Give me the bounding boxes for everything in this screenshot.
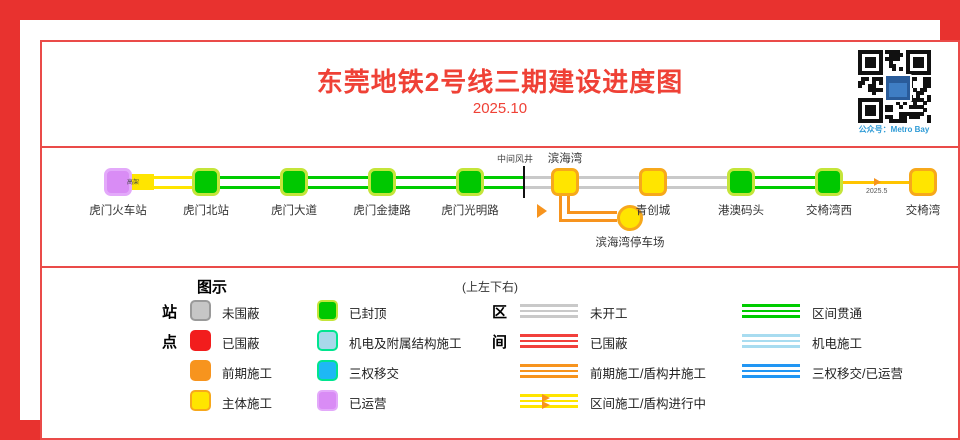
legend-label: 已运营 <box>349 393 387 412</box>
legend-line-stroke <box>742 345 800 348</box>
legend-line-arrow <box>542 401 550 409</box>
mid-shaft-label: 中间风井 <box>497 152 533 165</box>
depot-branch-arrow <box>537 204 547 218</box>
legend-line-swatch <box>742 332 800 349</box>
qr-center-logo <box>884 74 912 102</box>
station-label-虎门大道: 虎门大道 <box>249 202 339 218</box>
legend-line-stroke <box>520 304 578 307</box>
tbm-date-label: 2025.5 <box>866 188 887 195</box>
legend-line-stroke <box>520 345 578 348</box>
legend-line-stroke <box>520 370 578 373</box>
legend-label: 三权移交/已运营 <box>812 363 903 382</box>
legend-swatch <box>317 300 338 321</box>
station-虎门北站[interactable] <box>192 168 220 196</box>
legend-panel: 图示 (上左下右) 站点区间未围蔽已围蔽前期施工主体施工已封顶机电及附属结构施工… <box>40 268 960 440</box>
legend-swatch <box>190 390 211 411</box>
legend-label: 前期施工/盾构井施工 <box>590 363 706 382</box>
legend-label: 三权移交 <box>349 363 399 382</box>
legend-line-stroke <box>742 340 800 343</box>
station-交椅湾西[interactable] <box>815 168 843 196</box>
legend-label: 区间施工/盾构进行中 <box>590 393 706 412</box>
legend-line-swatch <box>520 392 578 409</box>
legend-line-stroke <box>742 370 800 373</box>
station-滨海湾[interactable] <box>551 168 579 196</box>
station-label-虎门金捷路: 虎门金捷路 <box>337 202 427 218</box>
station-label-滨海湾停车场: 滨海湾停车场 <box>585 234 675 250</box>
page-title: 东莞地铁2号线三期建设进度图 <box>42 62 958 99</box>
legend-title: 图示 <box>197 276 227 297</box>
station-label-虎门光明路: 虎门光明路 <box>425 202 515 218</box>
station-label-虎门北站: 虎门北站 <box>161 202 251 218</box>
legend-label: 已封顶 <box>349 303 387 322</box>
legend-label: 前期施工 <box>222 363 272 382</box>
legend-line-stroke <box>520 375 578 378</box>
legend-line-stroke <box>742 364 800 367</box>
legend-label: 主体施工 <box>222 393 272 412</box>
line-diagram: 高架中间风井2025.5滨海湾停车场虎门火车站虎门北站虎门大道虎门金捷路虎门光明… <box>42 148 958 266</box>
legend-swatch <box>317 360 338 381</box>
legend-label: 机电施工 <box>812 333 862 352</box>
legend-line-swatch <box>520 332 578 349</box>
depot-branch-vertical-outer <box>559 194 562 222</box>
station-青创城[interactable] <box>639 168 667 196</box>
station-label-交椅湾西: 交椅湾西 <box>784 202 874 218</box>
station-虎门光明路[interactable] <box>456 168 484 196</box>
station-label-滨海湾: 滨海湾 <box>520 150 610 166</box>
legend-line-stroke <box>520 364 578 367</box>
title-panel: 东莞地铁2号线三期建设进度图 2025.10 公众号：Metro Bay <box>40 40 960 148</box>
legend-line-stroke <box>520 315 578 318</box>
legend-note: (上左下右) <box>462 278 518 295</box>
legend-label: 已围蔽 <box>222 333 260 352</box>
legend-swatch <box>190 300 211 321</box>
legend-line-stroke <box>742 375 800 378</box>
station-交椅湾[interactable] <box>909 168 937 196</box>
legend-line-stroke <box>742 304 800 307</box>
legend-line-stroke <box>742 315 800 318</box>
mid-shaft-marker <box>523 166 525 198</box>
station-label-交椅湾: 交椅湾 <box>878 202 960 218</box>
qr-code-icon[interactable] <box>858 50 930 122</box>
legend-line-swatch <box>520 302 578 319</box>
poster-frame: 东莞地铁2号线三期建设进度图 2025.10 公众号：Metro Bay 高架中… <box>0 0 960 440</box>
depot-branch-horizontal-outer <box>559 219 617 222</box>
legend-line-stroke <box>520 334 578 337</box>
station-虎门金捷路[interactable] <box>368 168 396 196</box>
legend-label: 机电及附属结构施工 <box>349 333 462 352</box>
legend-group-station-char-0: 站 <box>162 301 177 322</box>
legend-line-swatch <box>520 362 578 379</box>
legend-group-interval-char-0: 区 <box>492 301 507 322</box>
poster-inner: 东莞地铁2号线三期建设进度图 2025.10 公众号：Metro Bay 高架中… <box>40 40 960 440</box>
qr-caption: 公众号：Metro Bay <box>852 124 936 135</box>
legend-line-swatch <box>742 302 800 319</box>
legend-line-stroke <box>742 310 800 313</box>
legend-label: 已围蔽 <box>590 333 628 352</box>
qr-block: 公众号：Metro Bay <box>852 50 936 142</box>
line-map-panel: 高架中间风井2025.5滨海湾停车场虎门火车站虎门北站虎门大道虎门金捷路虎门光明… <box>40 148 960 268</box>
station-label-港澳码头: 港澳码头 <box>696 202 786 218</box>
legend-group-interval-char-1: 间 <box>492 331 507 352</box>
legend-label: 未围蔽 <box>222 303 260 322</box>
legend-swatch <box>190 360 211 381</box>
legend-swatch <box>317 330 338 351</box>
station-label-青创城: 青创城 <box>608 202 698 218</box>
legend-line-stroke <box>520 340 578 343</box>
station-label-虎门火车站: 虎门火车站 <box>73 202 163 218</box>
legend-swatch <box>190 330 211 351</box>
legend: 图示 (上左下右) 站点区间未围蔽已围蔽前期施工主体施工已封顶机电及附属结构施工… <box>42 268 958 438</box>
legend-line-stroke <box>520 310 578 313</box>
legend-label: 未开工 <box>590 303 628 322</box>
title-date: 2025.10 <box>42 100 958 117</box>
station-虎门大道[interactable] <box>280 168 308 196</box>
legend-line-stroke <box>742 334 800 337</box>
legend-group-station-char-1: 点 <box>162 331 177 352</box>
elevated-label: 高架 <box>127 177 139 186</box>
tbm-direction-arrow <box>874 178 881 186</box>
legend-label: 区间贯通 <box>812 303 862 322</box>
station-港澳码头[interactable] <box>727 168 755 196</box>
legend-line-swatch <box>742 362 800 379</box>
legend-swatch <box>317 390 338 411</box>
